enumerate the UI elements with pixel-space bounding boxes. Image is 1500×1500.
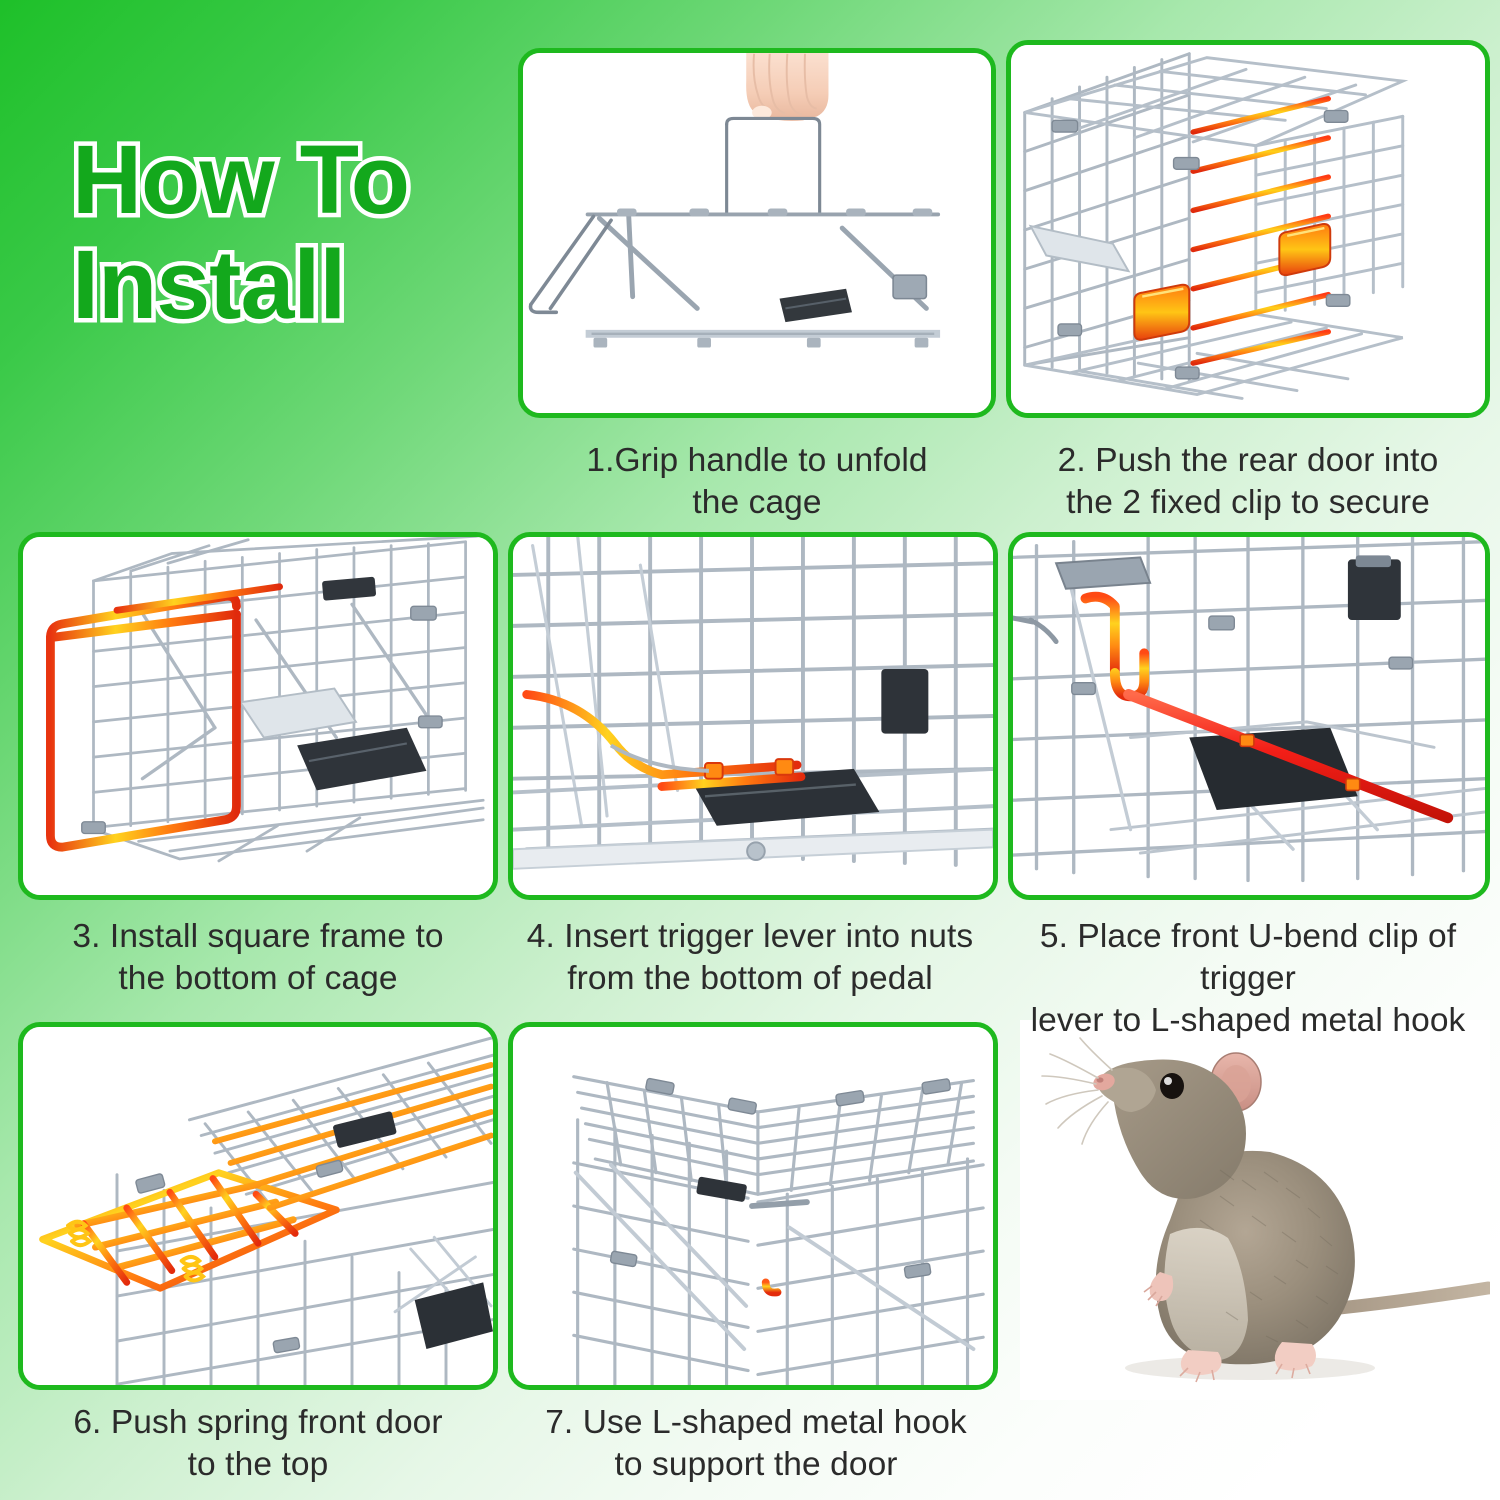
lock-mechanism [1348,559,1401,620]
step-5-image-panel [1008,532,1490,900]
step-1-image-panel [518,48,996,418]
trigger-lever-nuts-illustration [513,537,993,895]
step-6-caption-line-1: 6. Push spring front door [73,1404,442,1441]
rear-door-clip-illustration [1011,45,1485,413]
folded-cage-body [531,209,941,348]
step-3-image-panel [18,532,498,900]
step-2-caption-line-1: 2. Push the rear door into [1058,442,1439,479]
step-6-caption-line-2: to the top [10,1444,506,1486]
l-hook-supporting-door-illustration [513,1027,993,1385]
square-frame-illustration [23,537,493,895]
top-plate [1056,557,1150,588]
sensor-box [881,669,928,734]
step-1-caption: 1.Grip handle to unfold the cage [518,440,996,524]
step-4-caption: 4. Insert trigger lever into nuts from t… [500,916,1000,1000]
step-2-image-panel [1006,40,1490,418]
step-4-image-panel [508,532,998,900]
step-1-caption-line-2: the cage [518,482,996,524]
step-4-caption-line-2: from the bottom of pedal [500,958,1000,1000]
step-3-caption-line-2: the bottom of cage [10,958,506,1000]
step-7-caption: 7. Use L-shaped metal hook to support th… [506,1402,1006,1486]
step-5-caption-line-1: 5. Place front U-bend clip of trigger [1040,918,1456,997]
fixed-clip-upper [1279,224,1330,275]
spring-front-door-illustration [23,1027,493,1385]
title-line-1: How To [72,128,502,233]
rat-eye [1160,1073,1184,1099]
step-3-caption: 3. Install square frame to the bottom of… [10,916,506,1000]
step-3-caption-line-1: 3. Install square frame to [72,918,443,955]
u-bend-clip-hook-illustration [1013,537,1485,895]
page-title: How To Install [72,128,502,338]
step-4-caption-line-1: 4. Insert trigger lever into nuts [527,918,973,955]
step-6-image-panel [18,1022,498,1390]
step-1-caption-line-1: 1.Grip handle to unfold [586,442,927,479]
step-7-caption-line-2: to support the door [506,1444,1006,1486]
product-photo-rat [1020,1020,1490,1400]
step-7-caption-line-1: 7. Use L-shaped metal hook [545,1404,967,1441]
step-5-caption-line-2: lever to L-shaped metal hook [996,1000,1500,1042]
step-6-caption: 6. Push spring front door to the top [10,1402,506,1486]
fixed-clip-lower [1134,285,1189,340]
step-2-caption: 2. Push the rear door into the 2 fixed c… [1000,440,1496,524]
base-screw [747,842,765,860]
step-2-caption-line-2: the 2 fixed clip to secure [1000,482,1496,524]
title-line-2: Install [72,233,502,338]
hand-illustration [746,53,828,121]
hook-support-bar [752,1202,807,1206]
rat-illustration [1020,1020,1490,1400]
rat-hind-foot-left [1181,1350,1222,1375]
hand-gripping-cage-illustration [523,53,991,413]
step-5-caption: 5. Place front U-bend clip of trigger le… [996,916,1500,1043]
step-7-image-panel [508,1022,998,1390]
